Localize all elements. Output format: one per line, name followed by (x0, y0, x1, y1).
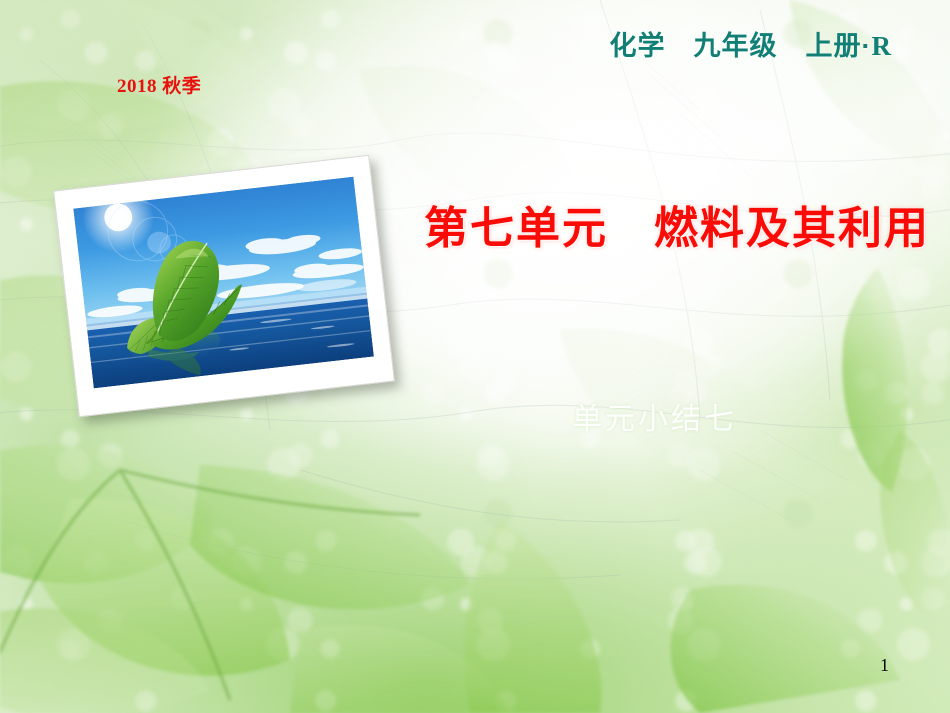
page-title: 第七单元 燃料及其利用 (424, 192, 930, 256)
page-number: 1 (880, 655, 889, 676)
course-header-label: 化学 九年级 上册· (610, 31, 872, 61)
leaf-photo-image (73, 177, 374, 389)
page-subtitle: 单元小结七 (572, 394, 737, 438)
course-header: 化学 九年级 上册·R (610, 24, 893, 63)
season-badge: 2018 秋季 (117, 71, 201, 98)
leaf-photo-frame (53, 155, 395, 418)
slide-canvas: 化学 九年级 上册·R 2018 秋季 (0, 0, 950, 713)
edition-code-label: R (872, 31, 893, 61)
